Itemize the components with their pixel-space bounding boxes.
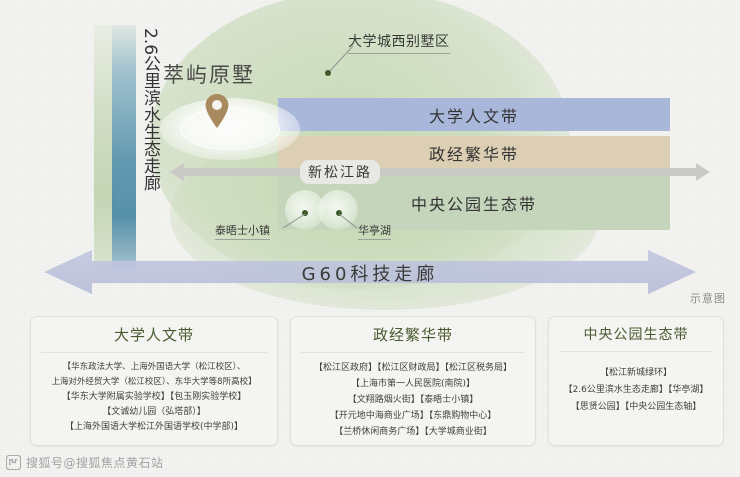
card-line: 【上海市第一人民医院(南院)】 [297, 376, 529, 392]
card-body: 【松江区政府】【松江区财政局】【松江区税务局】 【上海市第一人民医院(南院)】 … [291, 360, 535, 440]
card-line: 上海对外经贸大学（松江校区）、东华大学等8所高校】 [37, 375, 271, 390]
villa-marker-dot [325, 70, 331, 76]
card-line: 【松江区政府】【松江区财政局】【松江区税务局】 [297, 360, 529, 376]
band-university-humanities: 大学人文带 [278, 98, 670, 131]
poi-label-huating-lake: 华亭湖 [358, 222, 391, 240]
card-body: 【松江新城绿环】 【2.6公里滨水生态走廊】【华亭湖】 【思贤公园】【中央公园生… [549, 359, 723, 416]
card-line: 【华东大学附属实验学校】【包玉刚实验学校】 [37, 390, 271, 405]
project-ripple-ring [180, 108, 280, 150]
card-line: 【兰桥休闲商务广场】【大学城商业街】 [297, 424, 529, 440]
green-corridor-strip [94, 25, 114, 270]
villa-annotation-label: 大学城西别墅区 [348, 31, 450, 54]
sohu-logo-icon [6, 455, 21, 470]
card-line: 【文翔路烟火街】【泰晤士小镇】 [297, 392, 529, 408]
g60-corridor-label: G60科技走廊 [0, 260, 740, 286]
legend-cards: 大学人文带 【华东政法大学、上海外国语大学（松江校区）、 上海对外经贸大学（松江… [0, 312, 740, 452]
card-line: 【松江新城绿环】 [555, 365, 717, 382]
band-label: 政经繁华带 [429, 141, 519, 165]
card-government-commerce: 政经繁华带 【松江区政府】【松江区财政局】【松江区税务局】 【上海市第一人民医院… [290, 316, 536, 446]
road-label: 新松江路 [300, 160, 380, 184]
card-central-park-ecology: 中央公园生态带 【松江新城绿环】 【2.6公里滨水生态走廊】【华亭湖】 【思贤公… [548, 316, 724, 446]
band-label: 中央公园生态带 [411, 191, 537, 215]
band-label: 大学人文带 [429, 103, 519, 127]
card-line: 【文诚幼儿园（弘塔部）】 [37, 405, 271, 420]
map-pin-icon [205, 94, 229, 128]
watermark: 搜狐号@搜狐焦点黄石站 [6, 454, 164, 471]
waterfront-corridor-strip [112, 25, 136, 270]
card-title: 大学人文带 [41, 324, 267, 353]
card-title: 中央公园生态带 [559, 324, 713, 352]
poi1-leader-line [280, 212, 310, 232]
card-line: 【2.6公里滨水生态走廊】【华亭湖】 [555, 382, 717, 399]
waterfront-corridor-label: 2.6公里滨水生态走廊 [134, 28, 160, 264]
project-name: 萃屿原墅 [163, 59, 255, 89]
card-title: 政经繁华带 [301, 324, 525, 353]
watermark-text: 搜狐号@搜狐焦点黄石站 [26, 454, 164, 471]
schematic-map: 2.6公里滨水生态走廊 大学人文带 政经繁华带 中央公园生态带 新松江路 萃屿原… [0, 0, 740, 310]
card-line: 【开元地中海商业广场】【东鼎购物中心】 [297, 408, 529, 424]
card-university-humanities: 大学人文带 【华东政法大学、上海外国语大学（松江校区）、 上海对外经贸大学（松江… [30, 316, 278, 446]
card-line: 【上海外国语大学松江外国语学校(中学部)】 [37, 420, 271, 435]
card-body: 【华东政法大学、上海外国语大学（松江校区）、 上海对外经贸大学（松江校区）、东华… [31, 360, 277, 435]
poi-label-thames-town: 泰晤士小镇 [215, 222, 270, 240]
card-line: 【华东政法大学、上海外国语大学（松江校区）、 [37, 360, 271, 375]
schematic-note: 示意图 [690, 290, 726, 306]
card-line: 【思贤公园】【中央公园生态轴】 [555, 399, 717, 416]
